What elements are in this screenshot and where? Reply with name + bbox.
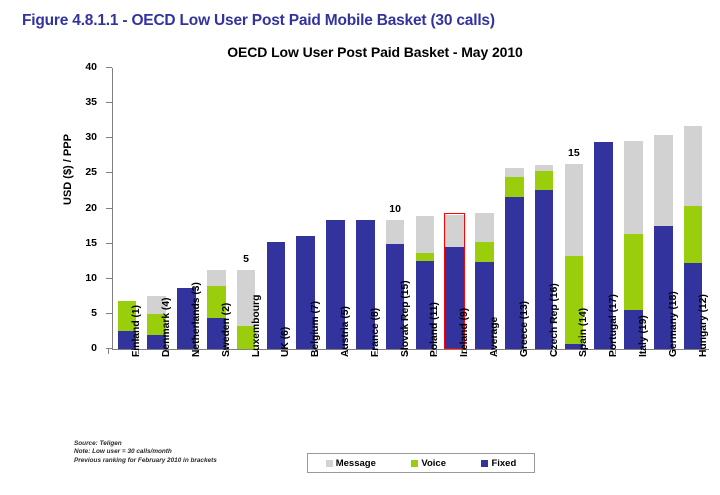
y-axis-tick: 5: [106, 313, 112, 314]
bar-segment-message: [535, 165, 553, 171]
chart-title: OECD Low User Post Paid Basket - May 201…: [0, 44, 720, 60]
x-axis-label: Finland (1): [131, 305, 142, 357]
bar-segment-voice: [416, 253, 434, 261]
bar-segment-voice: [475, 242, 493, 262]
x-axis-label: Germany (18): [668, 291, 679, 357]
legend-item-label: Message: [336, 458, 376, 469]
bar-segment-message: [624, 141, 642, 234]
bar-segment-message: [386, 220, 404, 243]
legend-swatch-icon: [326, 460, 333, 467]
legend-swatch-icon: [411, 460, 418, 467]
bar-segment-voice: [624, 234, 642, 310]
y-axis-tick-label: 40: [85, 61, 97, 73]
footnote-ranking: Previous ranking for February 2010 in br…: [74, 457, 217, 465]
y-axis-tick: 20: [106, 208, 112, 209]
x-axis-label: Austria (5): [340, 306, 351, 357]
bar-segment-voice: [684, 206, 702, 263]
x-axis-label: Portugal (17): [608, 294, 619, 357]
y-axis-tick: 30: [106, 137, 112, 138]
x-axis-label: Spain (14): [578, 308, 589, 357]
footnote-block: Source: Teligen Note: Low user = 30 call…: [74, 440, 217, 465]
bar-segment-message: [684, 126, 702, 206]
bar-segment-message: [505, 168, 523, 177]
x-axis-label: France (8): [370, 308, 381, 357]
y-axis-tick-label: 30: [85, 131, 97, 143]
y-axis-tick: 15: [106, 243, 112, 244]
x-axis-label: Poland (11): [429, 302, 440, 357]
bar-segment-message: [565, 164, 583, 255]
x-axis-label: Denmark (4): [161, 297, 172, 357]
legend-item-fixed[interactable]: Fixed: [481, 458, 516, 469]
bar-segment-message: [654, 135, 672, 226]
legend-item-message[interactable]: Message: [326, 458, 376, 469]
figure-caption: Figure 4.8.1.1 - OECD Low User Post Paid…: [22, 12, 495, 30]
x-axis-label: UK (6): [280, 327, 291, 357]
y-axis-tick: 25: [106, 172, 112, 173]
bar-value-label: 15: [554, 147, 594, 159]
x-axis-label: Average: [489, 317, 500, 357]
x-axis-label: Luxembourg: [251, 295, 262, 357]
x-axis-label: Italy (19): [638, 315, 649, 357]
footnote-source: Source: Teligen: [74, 440, 217, 448]
legend-swatch-icon: [481, 460, 488, 467]
x-axis-label: Ireland (9): [459, 308, 470, 357]
x-axis-label: Slovak Rep (15): [400, 280, 411, 357]
y-axis-tick-label: 35: [85, 96, 97, 108]
bar-segment-voice: [505, 177, 523, 197]
y-axis-tick-label: 0: [91, 342, 97, 354]
legend-item-voice[interactable]: Voice: [411, 458, 446, 469]
bar-value-label: 10: [375, 203, 415, 215]
y-axis-tick-label: 15: [85, 237, 97, 249]
y-axis-tick-label: 10: [85, 272, 97, 284]
bar-segment-message: [475, 213, 493, 242]
x-axis-label: Netherlands (3): [191, 282, 202, 357]
bar-segment-voice: [535, 171, 553, 189]
y-axis-tick: 35: [106, 102, 112, 103]
legend-item-label: Fixed: [491, 458, 516, 469]
legend-item-label: Voice: [421, 458, 446, 469]
x-axis-label: Belgium (7): [310, 301, 321, 357]
bar-segment-message: [445, 215, 463, 247]
y-axis-tick: 40: [106, 67, 112, 68]
x-axis-label: Hungary (12): [698, 294, 709, 357]
y-axis-label: USD ($) / PPP: [62, 134, 74, 205]
x-axis-label: Czech Rep (16): [549, 283, 560, 357]
chart-legend: MessageVoiceFixed: [307, 453, 535, 473]
x-axis-label: Sweden (2): [221, 303, 232, 357]
bar-segment-message: [207, 270, 225, 285]
x-axis-label: Greece (13): [519, 301, 530, 357]
y-axis-tick-label: 20: [85, 202, 97, 214]
y-axis-tick-label: 25: [85, 166, 97, 178]
bar-value-label: 5: [226, 253, 266, 265]
y-axis-tick-label: 5: [91, 307, 97, 319]
footnote-note: Note: Low user = 30 calls/month: [74, 448, 217, 456]
bar-segment-message: [416, 216, 434, 253]
x-axis-tick: [108, 349, 109, 354]
y-axis-tick: 10: [106, 278, 112, 279]
